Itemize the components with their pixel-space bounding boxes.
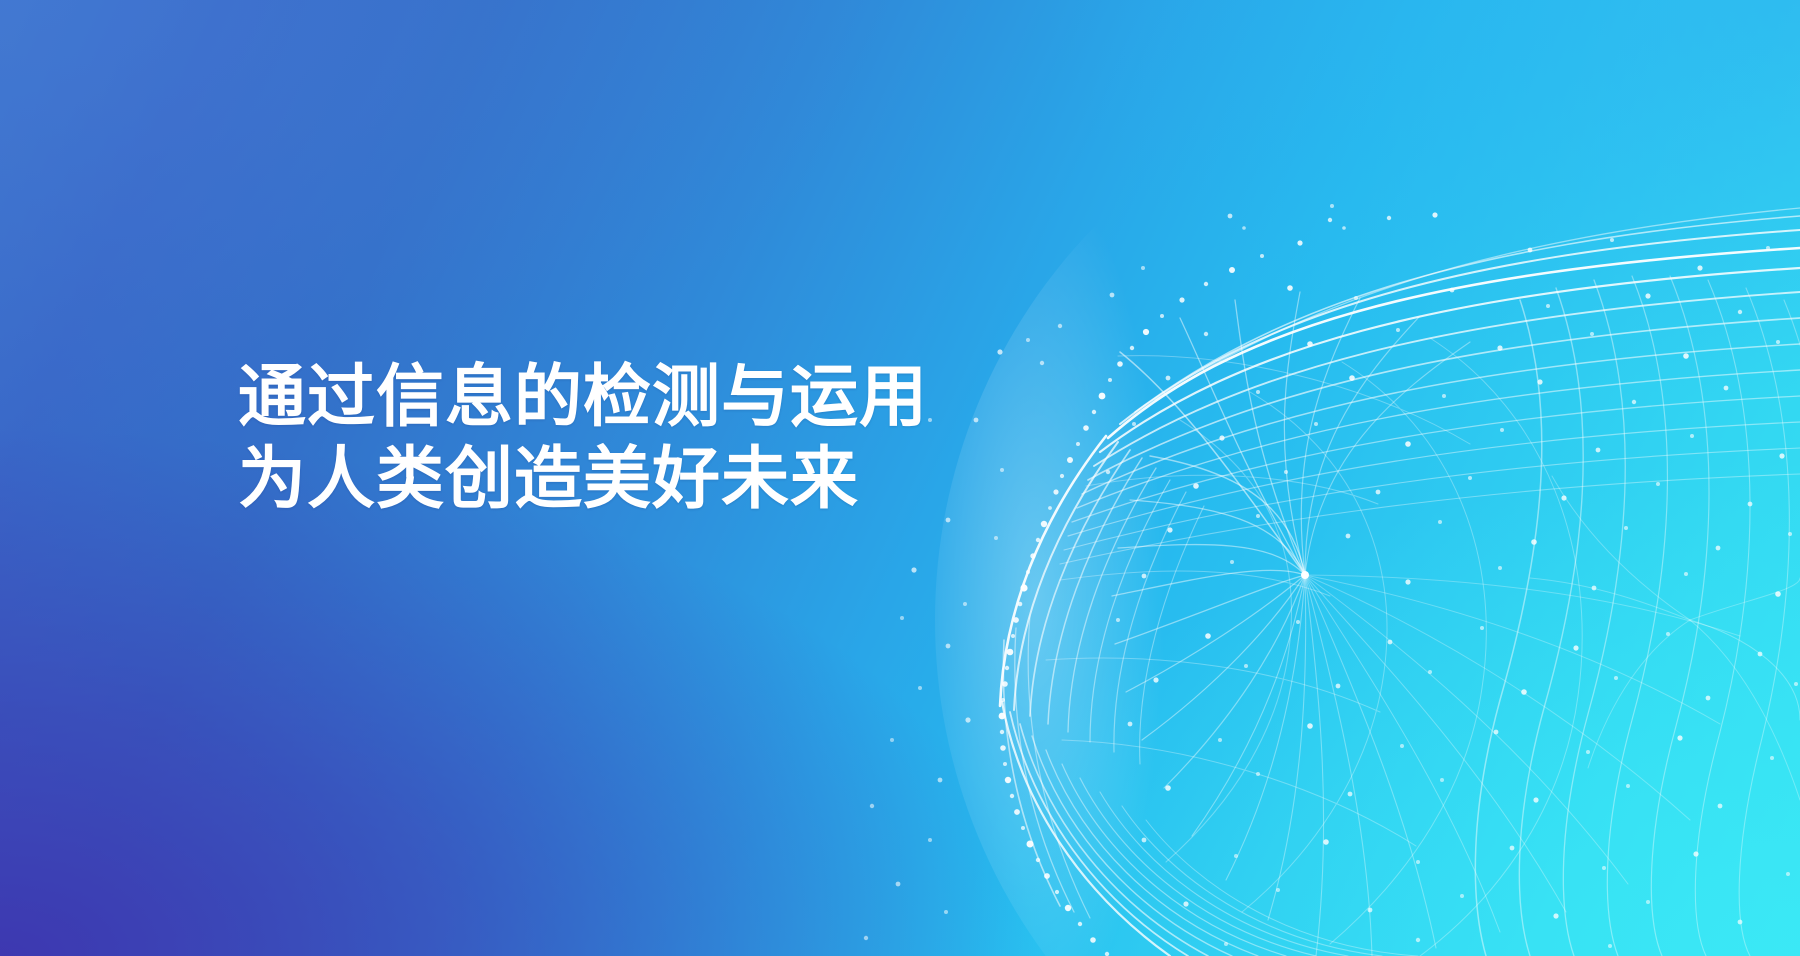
globe-inner: [905, 170, 1800, 956]
streamlines-upper: [1060, 208, 1800, 564]
headline-line-2: 为人类创造美好未来: [238, 438, 928, 520]
headline-line-1: 通过信息的检测与运用: [238, 356, 928, 438]
page-title: 通过信息的检测与运用 为人类创造美好未来: [238, 356, 928, 520]
banner-stage: 通过信息的检测与运用 为人类创造美好未来: [0, 0, 1800, 956]
globe-limb-glow: [905, 170, 1165, 956]
globe-particles: [1106, 212, 1798, 948]
streamlines-focal: [1112, 292, 1740, 956]
streamlines-right-lobe: [1475, 276, 1800, 956]
